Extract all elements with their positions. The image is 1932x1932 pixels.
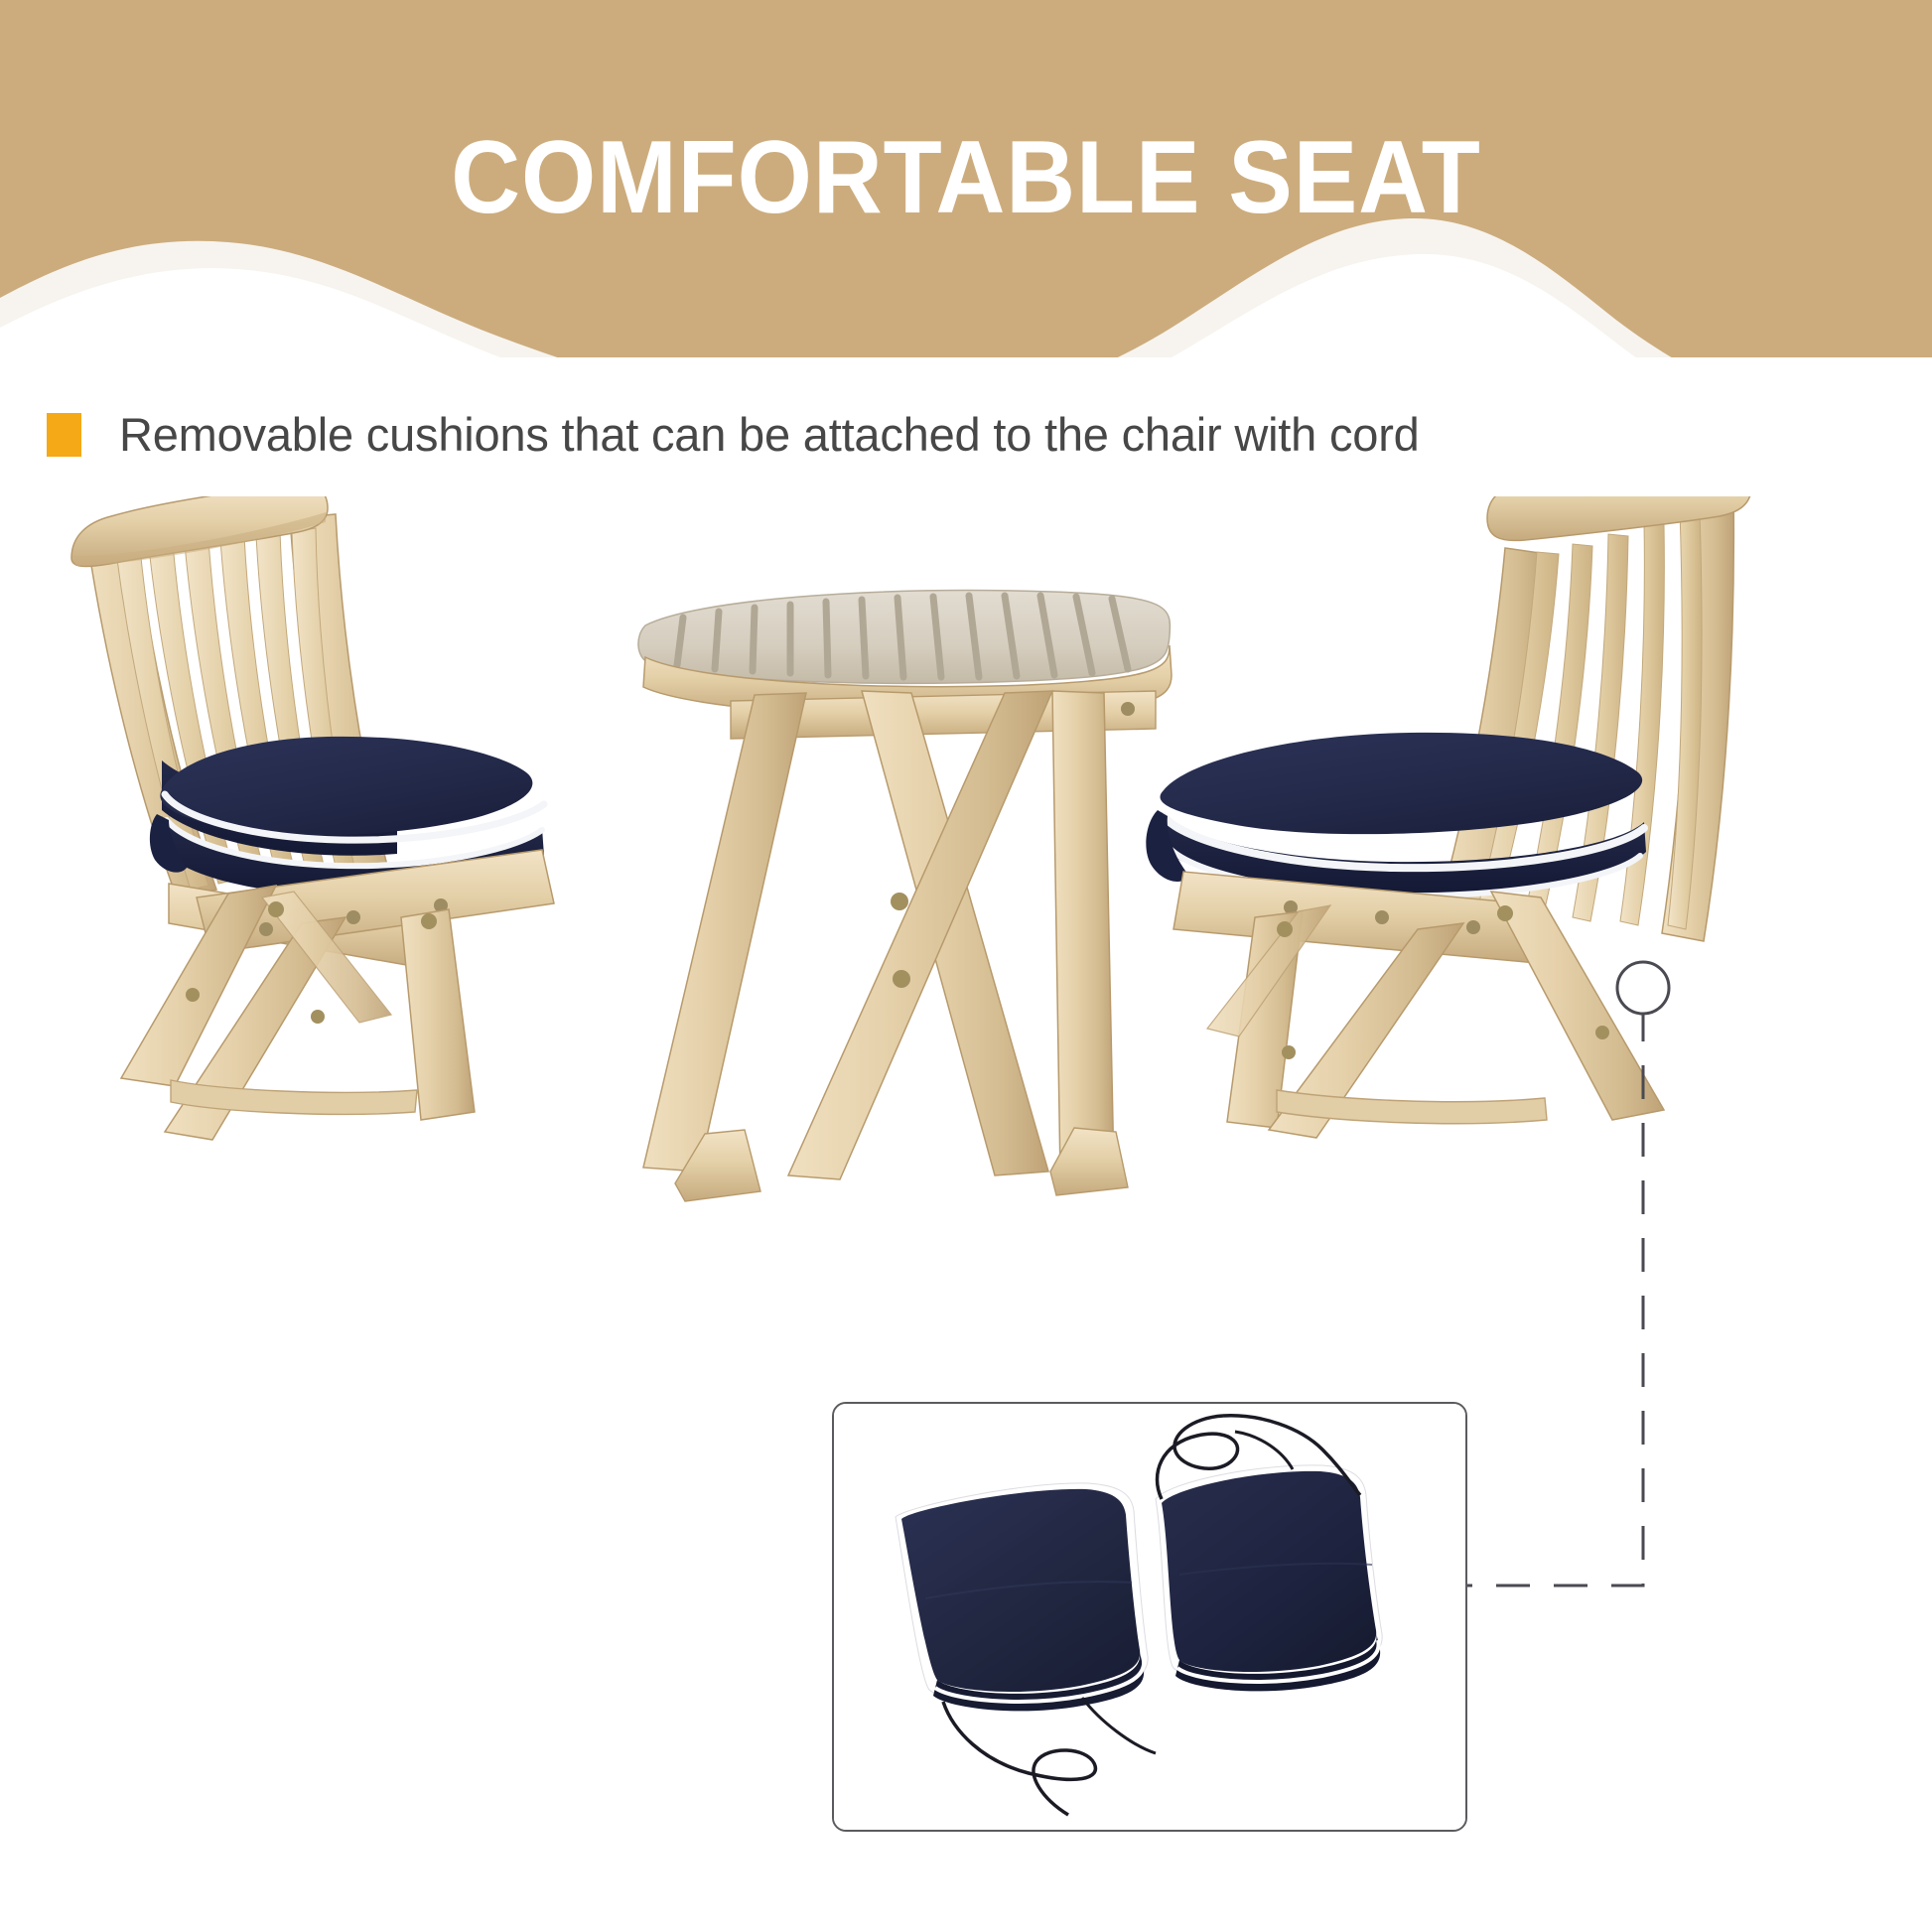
page-title: COMFORTABLE SEAT <box>68 121 1864 234</box>
cushion-right-top-face <box>1161 733 1643 834</box>
cushion-detail-panel <box>832 1402 1467 1832</box>
chair-left-screw-5 <box>421 913 437 929</box>
chair-left-screw-4 <box>268 901 284 917</box>
product-feature-image: COMFORTABLE SEAT Removable cushions that… <box>0 0 1932 1932</box>
chair-right-screw-2 <box>1375 910 1389 924</box>
chair-right-screw-6 <box>1595 1026 1609 1039</box>
table-leg-right-down <box>1052 691 1114 1175</box>
cushion-right-body <box>1162 1471 1376 1672</box>
feature-bullet-row: Removable cushions that can be attached … <box>47 407 1420 462</box>
chair-right-screw-5 <box>1497 905 1513 921</box>
feature-bullet-text: Removable cushions that can be attached … <box>119 407 1420 462</box>
table-pivot-screw-1 <box>891 893 908 910</box>
table-screw-1 <box>1121 702 1135 716</box>
chair-right-screw-4 <box>1277 921 1293 937</box>
cushion-left-body <box>901 1489 1140 1692</box>
folding-chair-right <box>1146 496 1751 1150</box>
chair-left-screw-7 <box>311 1010 325 1024</box>
chair-left-screw-6 <box>186 988 200 1002</box>
orange-square-bullet-icon <box>47 413 81 457</box>
table-pivot-screw-2 <box>893 970 910 988</box>
chair-right-cushion <box>1146 733 1646 896</box>
chair-right-screw-7 <box>1282 1045 1296 1059</box>
callout-circle-marker <box>1617 962 1669 1014</box>
folding-table-center <box>576 591 1172 1305</box>
folding-chair-left <box>71 496 554 1144</box>
